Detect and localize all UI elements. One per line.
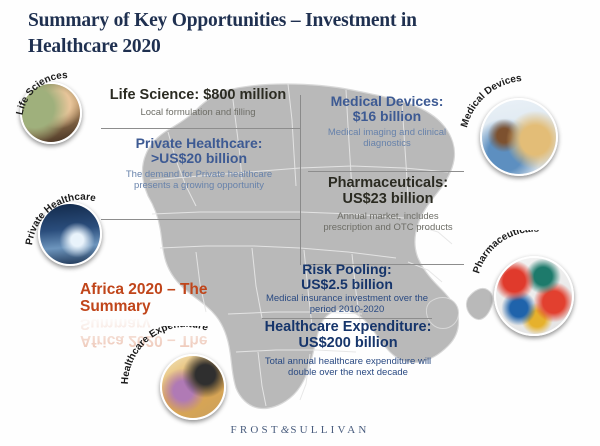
svg-text:Medical Devices: Medical Devices: [459, 74, 523, 129]
callout-pharmaceuticals: Pharmaceuticals: US$23 billion Annual ma…: [302, 176, 474, 234]
brand-ampersand-icon: &: [281, 424, 291, 436]
feature-word-line-2: Summary: [80, 298, 210, 315]
callout-medical-devices: Medical Devices: $16 billion Medical ima…: [306, 94, 468, 149]
callout-life-science-heading: Life Science: $800 million: [92, 88, 304, 104]
callout-private-healthcare-heading-2: >US$20 billion: [96, 151, 302, 166]
callout-risk-pooling-heading-2: US$2.5 billion: [258, 277, 436, 292]
callout-healthcare-expenditure: Healthcare Expenditure: US$200 billion T…: [240, 320, 456, 379]
bubble-medical-devices-label-text: Medical Devices: [459, 74, 523, 129]
bubble-healthcare-expenditure[interactable]: Healthcare Expenditure: [120, 326, 254, 414]
callout-life-science: Life Science: $800 million Local formula…: [92, 88, 304, 118]
callout-life-science-sub: Local formulation and filling: [92, 108, 304, 119]
callout-healthcare-expenditure-heading-1: Healthcare Expenditure:: [240, 320, 456, 336]
bubble-medical-devices-label: Medical Devices: [452, 74, 594, 176]
callout-risk-pooling-heading-1: Risk Pooling:: [258, 262, 436, 277]
callout-pharmaceuticals-heading-1: Pharmaceuticals:: [302, 176, 474, 192]
bubble-private-healthcare-label: Private Healthcare: [16, 176, 132, 264]
svg-text:Pharmaceuticals: Pharmaceuticals: [471, 230, 539, 275]
bubble-healthcare-expenditure-label: Healthcare Expenditure: [120, 326, 254, 414]
bubble-medical-devices[interactable]: Medical Devices: [452, 74, 594, 176]
svg-text:Private Healthcare: Private Healthcare: [24, 192, 97, 246]
callout-healthcare-expenditure-heading-2: US$200 billion: [240, 336, 456, 352]
brand-footer: FROST&SULLIVAN: [0, 424, 600, 436]
bubble-life-sciences[interactable]: Life Sciences: [10, 60, 114, 142]
bubble-pharmaceuticals-label-text: Pharmaceuticals: [471, 230, 539, 275]
bubble-private-healthcare-label-text: Private Healthcare: [24, 192, 97, 246]
divider-medical-devices: [308, 171, 464, 172]
callout-medical-devices-heading-1: Medical Devices:: [306, 94, 468, 109]
brand-name-right: SULLIVAN: [290, 424, 369, 436]
callout-medical-devices-heading-2: $16 billion: [306, 109, 468, 124]
callout-pharmaceuticals-heading-2: US$23 billion: [302, 192, 474, 208]
bubble-private-healthcare[interactable]: Private Healthcare: [16, 176, 132, 264]
brand-name-left: FROST: [231, 424, 281, 436]
bubble-healthcare-expenditure-label-text: Healthcare Expenditure: [120, 326, 210, 385]
feature-word-africa-2020: Africa 2020 – The Summary Africa 2020 – …: [80, 281, 210, 315]
callout-medical-devices-sub: Medical imaging and clinical diagnostics: [306, 128, 468, 149]
callout-risk-pooling-sub: Medical insurance investment over the pe…: [258, 294, 436, 315]
callout-healthcare-expenditure-sub: Total annual healthcare expenditure will…: [240, 357, 456, 378]
feature-word-line-1: Africa 2020 – The: [80, 281, 210, 298]
bubble-pharmaceuticals-label: Pharmaceuticals: [466, 230, 600, 334]
bubble-life-sciences-label: Life Sciences: [10, 60, 114, 142]
bubble-life-sciences-label-text: Life Sciences: [15, 70, 69, 116]
svg-text:Life Sciences: Life Sciences: [15, 70, 69, 116]
callout-private-healthcare-heading-1: Private Healthcare:: [96, 136, 302, 151]
svg-text:Healthcare Expenditure: Healthcare Expenditure: [120, 326, 210, 385]
bubble-pharmaceuticals[interactable]: Pharmaceuticals: [466, 230, 600, 334]
divider-life-science: [101, 128, 300, 129]
callout-risk-pooling: Risk Pooling: US$2.5 billion Medical ins…: [258, 262, 436, 315]
slide-canvas: Summary of Key Opportunities – Investmen…: [0, 0, 600, 446]
callout-pharmaceuticals-sub: Annual market, includes prescription and…: [302, 212, 474, 233]
